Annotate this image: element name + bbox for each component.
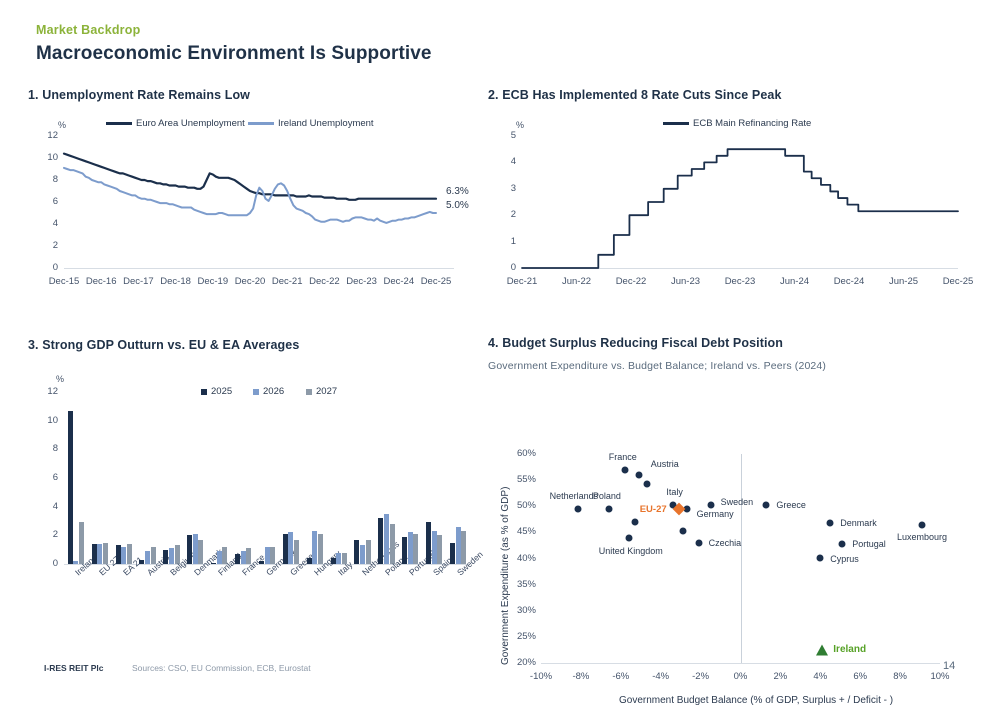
y-axis-unit-label: % (56, 374, 64, 384)
scatter-point (631, 518, 638, 525)
bar-belgium-2026 (169, 548, 174, 564)
scatter-point (679, 527, 686, 534)
x-tick-label: 0% (719, 671, 763, 682)
footer-brand: I-RES REIT Plc (44, 663, 104, 673)
end-label-ireland: 5.0% (446, 200, 469, 211)
legend-swatch-euro-area (106, 122, 132, 125)
legend-swatch-ecb-rate (663, 122, 689, 125)
panel-unemployment: 1. Unemployment Rate Remains Low %024681… (28, 88, 478, 294)
x-tick-label: 4% (798, 671, 842, 682)
panel-ecb-rate: 2. ECB Has Implemented 8 Rate Cuts Since… (488, 88, 988, 294)
bar-portugal-2025 (402, 537, 407, 564)
panel-4-title: 4. Budget Surplus Reducing Fiscal Debt P… (488, 336, 998, 350)
scatter-point (695, 539, 702, 546)
x-tick-label: 10% (918, 671, 962, 682)
y-tick-label: 0 (36, 558, 58, 569)
scatter-point (827, 519, 834, 526)
bar-netherlands-2026 (360, 545, 365, 564)
end-label-euro-area: 6.3% (446, 186, 469, 197)
y-tick-label: 4 (36, 501, 58, 512)
x-axis-baseline (541, 663, 940, 664)
scatter-label-united-kingdom: United Kingdom (586, 546, 676, 556)
bar-spain-2026 (432, 531, 437, 564)
bar-germany-2025 (259, 561, 264, 564)
scatter-point (625, 535, 632, 542)
scatter-point (763, 502, 770, 509)
scatter-label-cyprus: Cyprus (830, 554, 859, 564)
panel-3-title: 3. Strong GDP Outturn vs. EU & EA Averag… (28, 338, 478, 352)
ecb-rate-chart: %012345Dec-21Jun-22Dec-22Jun-23Dec-23Jun… (488, 114, 988, 294)
legend-label-2025: 2025 (211, 386, 232, 397)
bar-finland-2026 (217, 551, 222, 564)
bar-denmark-2026 (193, 534, 198, 564)
scatter-point (817, 554, 824, 561)
budget-scatter-chart: 20%25%30%35%40%45%50%55%60%-10%-8%-6%-4%… (488, 384, 998, 664)
bar-greece-2025 (283, 534, 288, 564)
scatter-label-denmark: Denmark (840, 518, 877, 528)
bar-eu-27-2025 (92, 544, 97, 564)
zero-reference-line (741, 454, 742, 663)
scatter-label-sweden: Sweden (721, 497, 754, 507)
bar-greece-2026 (288, 532, 293, 564)
bar-ea-21-2026 (121, 547, 126, 564)
slide-eyebrow: Market Backdrop (36, 23, 140, 37)
bar-ireland-2026 (73, 561, 78, 564)
y-tick-label: 55% (502, 474, 536, 485)
footer-sources: Sources: CSO, EU Commission, ECB, Eurost… (132, 663, 311, 673)
x-tick-label: 2% (758, 671, 802, 682)
bar-poland-2025 (378, 518, 383, 564)
scatter-label-eu-27: EU-27 (488, 504, 667, 515)
x-tick-label: -4% (639, 671, 683, 682)
scatter-point (621, 466, 628, 473)
bar-germany-2026 (265, 547, 270, 564)
page-number: 14 (943, 660, 955, 672)
page-title: Macroeconomic Environment Is Supportive (36, 43, 432, 65)
bar-hungary-2025 (307, 558, 312, 564)
gdp-bar-chart: %024681012IrelandEU 27EA 21AustriaBelgiu… (28, 372, 478, 627)
scatter-point (635, 472, 642, 479)
scatter-label-czechia: Czechia (709, 538, 742, 548)
legend-label-2027: 2027 (316, 386, 337, 397)
bar-spain-2025 (426, 522, 431, 564)
scatter-label-italy: Italy (630, 487, 720, 497)
x-tick-label: -8% (559, 671, 603, 682)
legend-2027: 2027 (306, 386, 337, 397)
y-tick-label: 60% (502, 448, 536, 459)
bar-poland-2026 (384, 514, 389, 564)
legend-label-ecb-rate: ECB Main Refinancing Rate (693, 118, 811, 129)
bar-belgium-2025 (163, 550, 168, 564)
scatter-point (707, 502, 714, 509)
scatter-point (919, 522, 926, 529)
legend-label-ireland: Ireland Unemployment (278, 118, 374, 129)
legend-label-2026: 2026 (263, 386, 284, 397)
legend-swatch-2027 (306, 389, 312, 395)
bar-portugal-2026 (408, 532, 413, 564)
x-tick-label: 6% (838, 671, 882, 682)
bar-austria-2025 (139, 560, 144, 564)
bar-denmark-2025 (187, 535, 192, 564)
scatter-label-germany: Germany (697, 509, 734, 519)
bar-france-2026 (241, 551, 246, 564)
scatter-label-austria: Austria (651, 459, 679, 469)
scatter-point-ireland (816, 645, 828, 656)
bar-finland-2025 (211, 563, 216, 564)
scatter-label-greece: Greece (776, 500, 806, 510)
bar-netherlands-2025 (354, 540, 359, 564)
scatter-label-ireland: Ireland (833, 644, 866, 655)
bar-ireland-2027 (79, 522, 84, 564)
legend-label-euro-area: Euro Area Unemployment (136, 118, 245, 129)
x-tick-label: -6% (599, 671, 643, 682)
legend-2025: 2025 (201, 386, 232, 397)
legend-euro-area: Euro Area Unemployment (106, 118, 245, 129)
bar-sweden-2026 (456, 527, 461, 564)
bar-ireland-2025 (68, 411, 73, 564)
slide: Market Backdrop Macroeconomic Environmen… (0, 0, 1000, 685)
bar-hungary-2026 (312, 531, 317, 564)
legend-ireland: Ireland Unemployment (248, 118, 374, 129)
panel-4-subtitle: Government Expenditure vs. Budget Balanc… (488, 360, 998, 372)
scatter-point (839, 540, 846, 547)
panel-1-title: 1. Unemployment Rate Remains Low (28, 88, 478, 102)
panel-gdp: 3. Strong GDP Outturn vs. EU & EA Averag… (28, 338, 478, 627)
bar-eu-27-2026 (97, 544, 102, 564)
x-tick-label: -10% (519, 671, 563, 682)
legend-swatch-2025 (201, 389, 207, 395)
bar-austria-2026 (145, 551, 150, 564)
legend-2026: 2026 (253, 386, 284, 397)
bar-ea-21-2025 (116, 545, 121, 564)
panel-budget: 4. Budget Surplus Reducing Fiscal Debt P… (488, 336, 998, 664)
y-tick-label: 10 (36, 415, 58, 426)
bar-france-2025 (235, 554, 240, 564)
x-tick-label: -2% (679, 671, 723, 682)
y-tick-label: 2 (36, 529, 58, 540)
legend-swatch-ireland (248, 122, 274, 125)
legend-swatch-2026 (253, 389, 259, 395)
x-tick-label: 8% (878, 671, 922, 682)
panel-2-title: 2. ECB Has Implemented 8 Rate Cuts Since… (488, 88, 988, 102)
bar-sweden-2025 (450, 543, 455, 565)
scatter-label-luxembourg: Luxembourg (877, 532, 967, 542)
x-axis-title: Government Budget Balance (% of GDP, Sur… (619, 695, 893, 706)
y-tick-label: 8 (36, 443, 58, 454)
y-tick-label: 12 (36, 386, 58, 397)
y-tick-label: 6 (36, 472, 58, 483)
legend-ecb-rate: ECB Main Refinancing Rate (663, 118, 811, 129)
unemployment-chart: %024681012Dec-15Dec-16Dec-17Dec-18Dec-19… (28, 114, 478, 294)
bar-italy-2025 (331, 558, 336, 564)
bar-italy-2026 (336, 553, 341, 564)
bar-poland-2027 (390, 524, 395, 564)
